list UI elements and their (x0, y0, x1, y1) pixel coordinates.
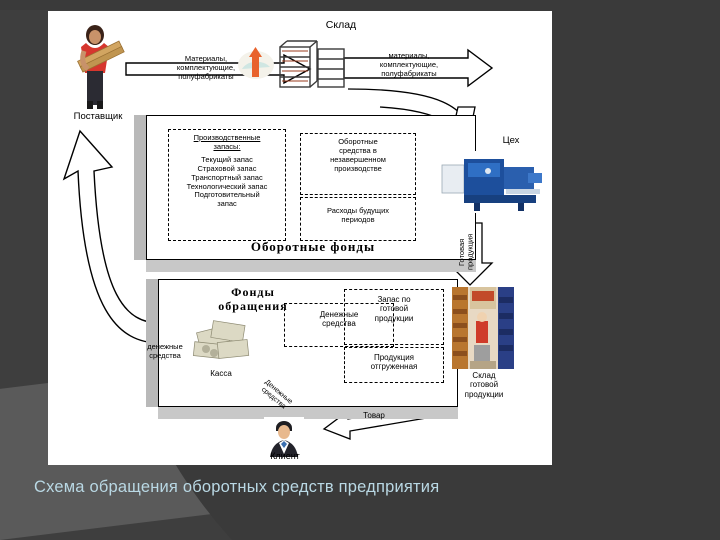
supplier-label: Поставщик (56, 111, 140, 122)
diagram-canvas: Склад (48, 11, 552, 465)
production-stock-title: Производственные запасы: (168, 134, 286, 152)
future-expenses-label: Расходы будущих периодов (298, 207, 418, 225)
work-in-progress-label: Оборотные средства в незавершенном произ… (300, 138, 416, 173)
finished-stock-box-outline (344, 289, 444, 345)
background-top-strip (0, 0, 720, 10)
client-label: Клиент (254, 451, 316, 462)
workshop-label: Цех (488, 135, 534, 146)
working-funds-title: Оборотные фонды (198, 239, 428, 254)
cash-money-image (192, 319, 258, 365)
goods-to-client-label: Товар (344, 411, 404, 420)
slide: Склад (0, 0, 720, 540)
finished-goods-warehouse-label: Склад готовой продукции (446, 371, 522, 399)
money-out-label: денежные средства (130, 343, 200, 361)
shipped-product-box (344, 347, 444, 383)
slide-caption: Схема обращения оборотных средств предпр… (34, 478, 439, 497)
workshop-machine-image (440, 151, 546, 213)
supplier-image (70, 23, 126, 109)
finished-goods-warehouse-image (452, 287, 514, 369)
warehouse-title: Склад (296, 19, 386, 31)
production-stock-items: Текущий запас Страховой запас Транспортн… (166, 156, 288, 209)
materials-to-stock-label: материалы, комплектующие, полуфабрикаты (354, 52, 464, 79)
materials-to-warehouse-label: Материалы, комплектующие, полуфабрикаты (148, 55, 264, 82)
finished-goods-arrow-label: Готовая продукция (458, 225, 482, 279)
